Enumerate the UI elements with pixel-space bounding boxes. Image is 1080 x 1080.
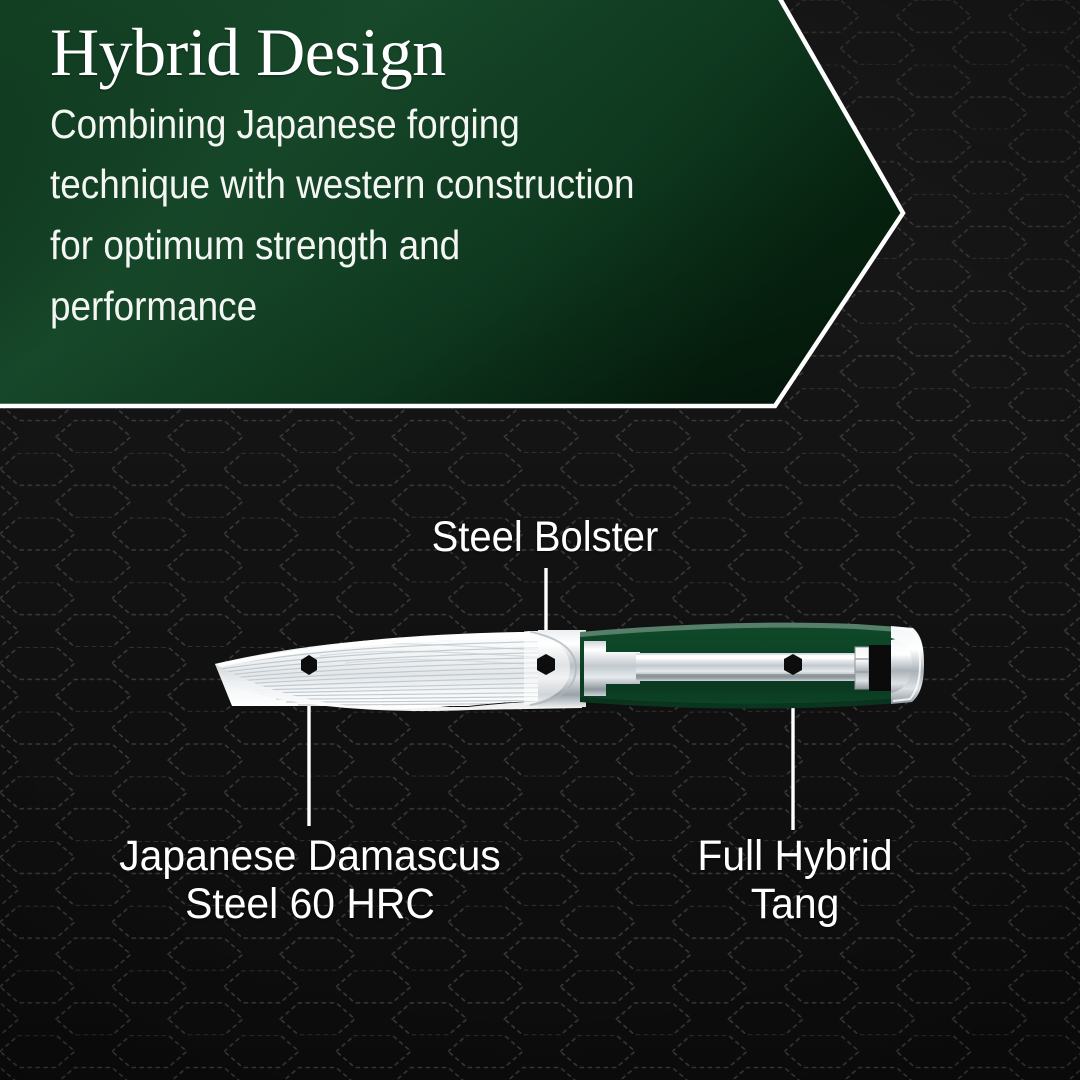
infographic-canvas: Hybrid Design Combining Japanese forging… bbox=[0, 0, 1080, 1080]
header-banner: Hybrid Design Combining Japanese forging… bbox=[0, 0, 910, 418]
callout-label-full-hybrid-tang: Full Hybrid Tang bbox=[634, 832, 957, 928]
banner-subtitle: Combining Japanese forging technique wit… bbox=[50, 94, 752, 337]
callout-label-steel-bolster: Steel Bolster bbox=[345, 513, 745, 561]
banner-text-block: Hybrid Design Combining Japanese forging… bbox=[50, 17, 830, 336]
callout-label-japanese-damascus: Japanese Damascus Steel 60 HRC bbox=[82, 832, 538, 928]
banner-title: Hybrid Design bbox=[50, 17, 830, 88]
